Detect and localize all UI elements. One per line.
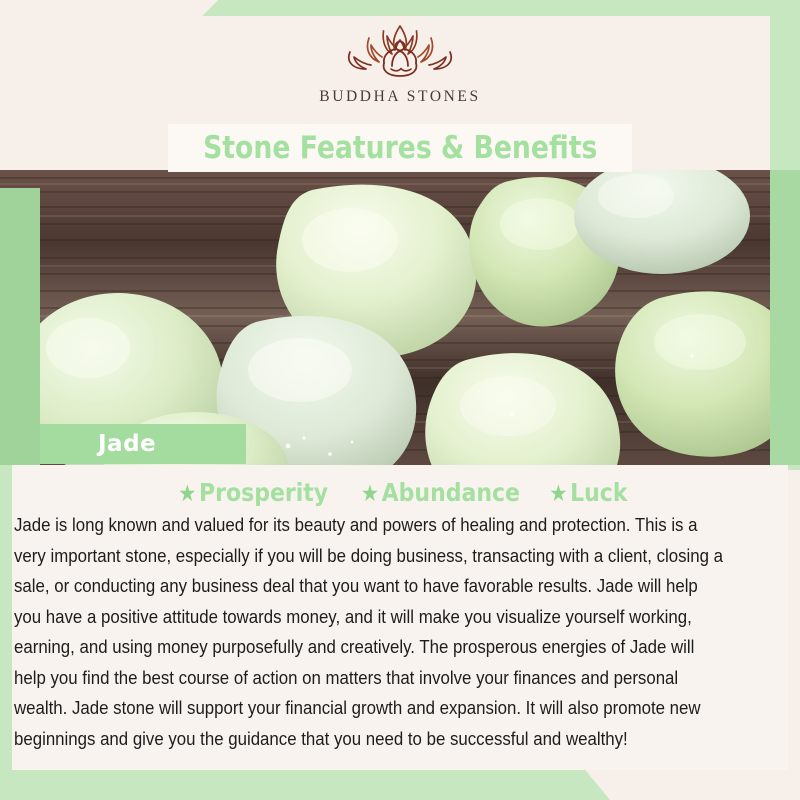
- stone-name: Jade: [98, 431, 156, 457]
- decor-band-bottom: [0, 766, 800, 800]
- star-icon: ★: [178, 481, 196, 507]
- benefit-item: ★Prosperity: [178, 478, 328, 507]
- star-icon: ★: [361, 481, 379, 507]
- stone-description: Jade is long known and valued for its be…: [14, 510, 724, 754]
- stone-photo-graphic: [0, 170, 800, 465]
- benefit-label: Luck: [570, 478, 627, 507]
- brand-name: BUDDHA STONES: [319, 88, 480, 106]
- benefit-item: ★Luck: [549, 478, 627, 507]
- stone-name-badge: Jade: [40, 424, 246, 464]
- stone-info-poster: BUDDHA STONES Stone Features & Benefits: [0, 0, 800, 800]
- decor-photo-overlay-right: [770, 170, 800, 465]
- benefit-label: Prosperity: [199, 478, 328, 507]
- benefit-item: ★Abundance: [361, 478, 520, 507]
- star-icon: ★: [549, 481, 567, 507]
- page-title: Stone Features & Benefits: [203, 130, 597, 166]
- benefit-label: Abundance: [382, 478, 520, 507]
- benefits-list: ★Prosperity ★Abundance ★Luck: [0, 478, 800, 507]
- stone-photo: [0, 170, 800, 465]
- decor-photo-overlay-left: [0, 188, 40, 465]
- brand-logo: BUDDHA STONES: [319, 20, 480, 106]
- brand-header: BUDDHA STONES: [0, 0, 800, 125]
- title-banner: Stone Features & Benefits: [168, 124, 632, 172]
- lotus-meditation-icon: [335, 20, 465, 82]
